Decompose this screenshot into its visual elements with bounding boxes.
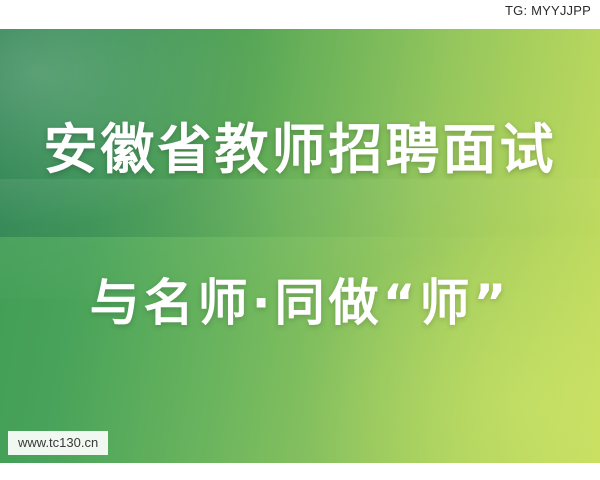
poster-image: TG: MYYJJPP 安徽省教师招聘面试 与名师·同做“师” www.tc13…: [0, 0, 600, 480]
poster-headline: 安徽省教师招聘面试: [0, 105, 600, 184]
watermark-label: www.tc130.cn: [8, 431, 108, 455]
top-white-strip: TG: MYYJJPP: [0, 0, 600, 29]
telegram-tag-label: TG: MYYJJPP: [496, 0, 600, 22]
poster-canvas: 安徽省教师招聘面试 与名师·同做“师” www.tc130.cn: [0, 29, 600, 463]
poster-subline: 与名师·同做“师”: [0, 263, 600, 335]
bottom-white-strip: [0, 463, 600, 480]
